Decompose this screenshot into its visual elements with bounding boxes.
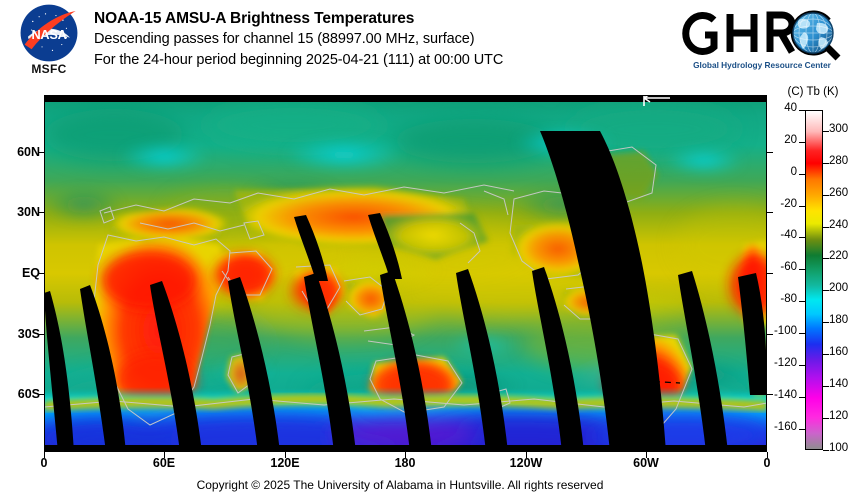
colorbar-label-k-260: 260 xyxy=(829,187,854,199)
ghrc-tagline: Global Hydrology Resource Center xyxy=(678,60,846,70)
ytick-mark-right-30n xyxy=(767,212,773,213)
ytick-mark-eq xyxy=(38,273,44,274)
map-canvas xyxy=(44,95,767,452)
ytick-mark-30s xyxy=(38,334,44,335)
colorbar-tick-c--80 xyxy=(799,301,805,302)
colorbar-label-c--80: -80 xyxy=(763,293,797,305)
ytick-label-eq: EQ xyxy=(0,266,40,280)
title-block: NOAA-15 AMSU-A Brightness Temperatures D… xyxy=(94,9,694,71)
colorbar-tick-c--40 xyxy=(799,237,805,238)
xtick-label-60w: 60W xyxy=(616,456,676,470)
colorbar-label-c--140: -140 xyxy=(763,389,797,401)
page-subtitle-channel: Descending passes for channel 15 (88997.… xyxy=(94,29,694,50)
xtick-label-360: 0 xyxy=(737,456,797,470)
colorbar-label-c--100: -100 xyxy=(763,325,797,337)
ytick-label-30n: 30N xyxy=(0,205,40,219)
colorbar-tick-c--60 xyxy=(799,269,805,270)
nasa-center-label: MSFC xyxy=(12,62,86,76)
page-title: NOAA-15 AMSU-A Brightness Temperatures xyxy=(94,9,694,29)
brightness-temperature-map[interactable] xyxy=(44,95,767,452)
colorbar-tick-c--120 xyxy=(799,365,805,366)
colorbar-tick-c-40 xyxy=(799,110,805,111)
colorbar-label-c-40: 40 xyxy=(763,102,797,114)
copyright-notice: Copyright © 2025 The University of Alaba… xyxy=(0,478,800,492)
ghrc-logo: Global Hydrology Resource Center xyxy=(678,6,846,78)
ytick-label-30s: 30S xyxy=(0,327,40,341)
colorbar-label-k-220: 220 xyxy=(829,250,854,262)
colorbar-tick-c-0 xyxy=(799,174,805,175)
colorbar-label-c-0: 0 xyxy=(763,166,797,178)
xtick-label-120e: 120E xyxy=(255,456,315,470)
colorbar-label-c--160: -160 xyxy=(763,421,797,433)
ghrc-wordmark-icon xyxy=(678,6,846,64)
ytick-label-60s: 60S xyxy=(0,387,40,401)
colorbar-label-k-200: 200 xyxy=(829,282,854,294)
colorbar-label-c--20: -20 xyxy=(763,198,797,210)
svg-text:NASA: NASA xyxy=(32,27,67,42)
xtick-label-180: 180 xyxy=(375,456,435,470)
colorbar-label-k-140: 140 xyxy=(829,378,854,390)
colorbar-label-c--60: -60 xyxy=(763,261,797,273)
colorbar-gradient[interactable] xyxy=(805,110,823,450)
colorbar-tick-c--140 xyxy=(799,397,805,398)
ytick-mark-60n xyxy=(38,152,44,153)
ytick-mark-30n xyxy=(38,212,44,213)
nasa-logo: NASA MSFC xyxy=(12,4,86,86)
colorbar-label-k-280: 280 xyxy=(829,155,854,167)
colorbar-tick-c--20 xyxy=(799,206,805,207)
ytick-mark-60s xyxy=(38,394,44,395)
colorbar-label-k-300: 300 xyxy=(829,123,854,135)
colorbar-label-k-120: 120 xyxy=(829,410,854,422)
page-subtitle-period: For the 24-hour period beginning 2025-04… xyxy=(94,50,694,71)
colorbar-label-k-240: 240 xyxy=(829,219,854,231)
xtick-label-60e: 60E xyxy=(134,456,194,470)
colorbar-tick-c--160 xyxy=(799,429,805,430)
colorbar-tick-c-20 xyxy=(799,142,805,143)
ytick-label-60n: 60N xyxy=(0,145,40,159)
xtick-label-0: 0 xyxy=(14,456,74,470)
colorbar-label-k-100: 100 xyxy=(829,442,854,454)
colorbar-label-k-180: 180 xyxy=(829,314,854,326)
colorbar-label-k-160: 160 xyxy=(829,346,854,358)
nasa-meatball-icon: NASA xyxy=(20,4,78,62)
colorbar-tick-c--100 xyxy=(799,333,805,334)
colorbar-label-c-20: 20 xyxy=(763,134,797,146)
colorbar-label-c--40: -40 xyxy=(763,229,797,241)
xtick-label-120w: 120W xyxy=(496,456,556,470)
colorbar-header: (C) Tb (K) xyxy=(772,86,854,98)
visualization-page: NASA MSFC NOAA-15 AMSU-A Brightness Temp… xyxy=(0,0,854,502)
colorbar-label-c--120: -120 xyxy=(763,357,797,369)
ytick-mark-right-60n xyxy=(767,152,773,153)
